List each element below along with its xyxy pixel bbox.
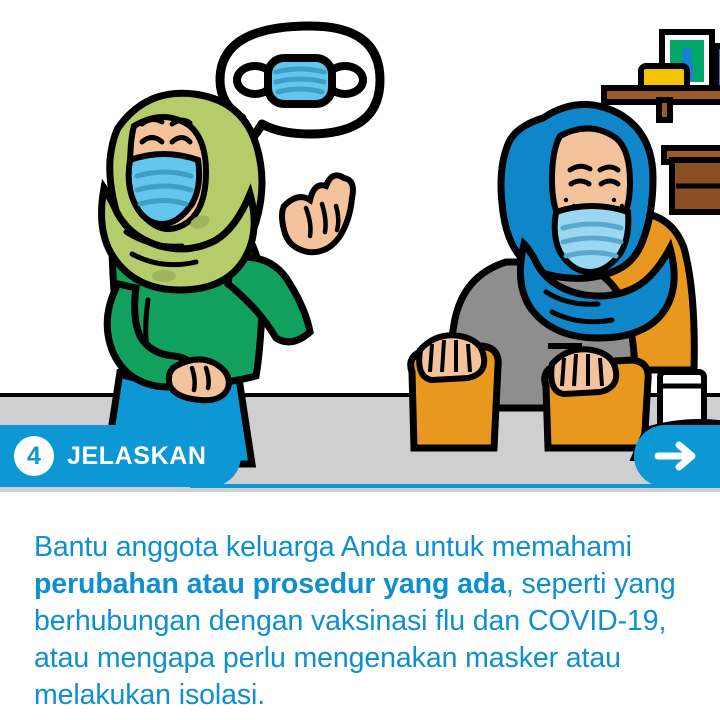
step-tab: 4 JELASKAN [0, 425, 241, 487]
body-text-part-1: Bantu anggota keluarga Anda untuk memaha… [34, 531, 632, 563]
illustration-scene [0, 0, 720, 492]
body-text: Bantu anggota keluarga Anda untuk memaha… [34, 529, 684, 714]
shelf-blue-object [716, 46, 720, 90]
side-table [664, 148, 720, 212]
seated-woman-hand-left [419, 335, 484, 380]
step-title: JELASKAN [67, 442, 207, 471]
next-button[interactable] [634, 425, 720, 487]
tab-underline-rule [190, 484, 720, 488]
seated-woman-hand-right [551, 349, 616, 394]
standing-woman-hand-left [169, 359, 229, 400]
body-text-emphasis: perubahan atau prosedur yang ada [34, 568, 506, 600]
infographic-card: 4 JELASKAN Bantu anggota keluarga Anda u… [0, 0, 720, 720]
arrow-right-icon [654, 439, 700, 473]
surgical-mask-icon [237, 58, 363, 104]
step-number-badge: 4 [14, 436, 54, 476]
